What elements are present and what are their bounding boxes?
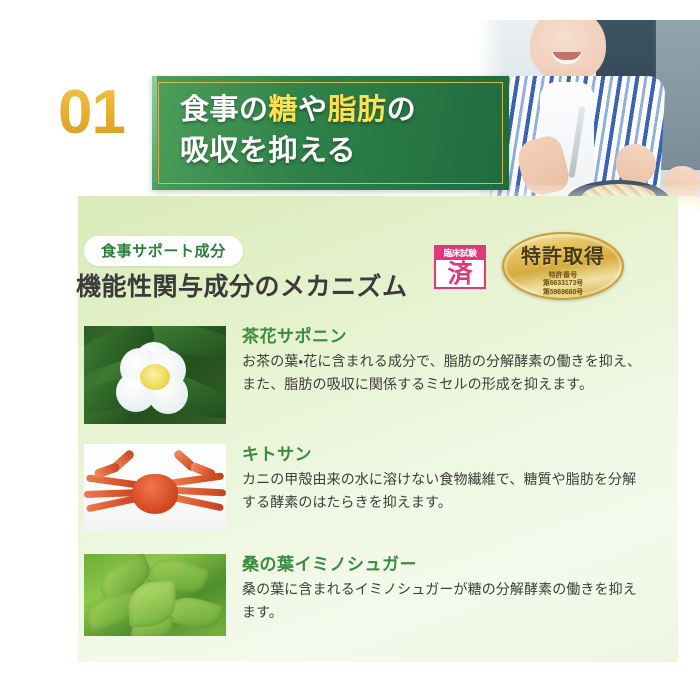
ingredient-title: 桑の葉イミノシュガー <box>242 550 642 575</box>
banner-line1-mid: や <box>298 94 328 126</box>
step-number: 01 <box>58 82 125 144</box>
patent-number-2: 第5969680号 <box>504 289 622 298</box>
crab-photo <box>84 444 226 532</box>
person-right-hand <box>616 144 656 184</box>
ingredient-description: 桑の葉に含まれるイミノシュガーが糖の分解酵素の働きを抑えます。 <box>242 578 642 623</box>
section-heading: 機能性関与成分のメカニズム <box>76 267 408 303</box>
crab-body <box>132 474 178 514</box>
banner-title: 食事の糖や脂肪の 吸収を抑える <box>180 90 495 172</box>
patent-seal-title: 特許取得 <box>504 240 622 269</box>
clinical-trial-badge: 臨床試験 済 <box>434 245 486 289</box>
banner-highlight-sugar: 糖 <box>269 94 299 126</box>
clinical-trial-mark: 済 <box>436 260 484 288</box>
clinical-trial-label: 臨床試験 <box>436 247 484 260</box>
ingredient-text: 茶花サポニン お茶の葉・花に含まれる成分で、脂肪の分解酵素の働きを抑え、また、脂… <box>242 322 642 395</box>
patent-number-label: 特許番号 <box>504 271 622 280</box>
ingredient-description: お茶の葉・花に含まれる成分で、脂肪の分解酵素の働きを抑え、また、脂肪の吸収に関係… <box>242 350 642 395</box>
title-banner: 食事の糖や脂肪の 吸収を抑える <box>152 76 509 190</box>
banner-line1-pre: 食事の <box>180 94 269 126</box>
mulberry-leaf-photo <box>84 554 226 636</box>
banner-line2: 吸収を抑える <box>180 135 356 167</box>
ingredient-title: 茶花サポニン <box>242 322 642 347</box>
banner-highlight-fat: 脂肪 <box>328 94 387 126</box>
banner-left-edge <box>152 76 157 190</box>
tea-flower-photo <box>84 326 226 424</box>
ingredient-text: キトサン カニの甲殻由来の水に溶けない食物繊維で、糖質や脂肪を分解する酵素のはた… <box>242 440 642 513</box>
patent-number-1: 第6633173号 <box>504 280 622 289</box>
ingredient-title: キトサン <box>242 440 642 465</box>
hero-eating-photo <box>478 20 700 215</box>
infographic-page: 01 食事の糖や脂肪の 吸収を抑える 食事サポート成分 機能性関与成分のメカニズ… <box>0 0 700 700</box>
ingredient-description: カニの甲殻由来の水に溶けない食物繊維で、糖質や脂肪を分解する酵素のはたらきを抑え… <box>242 468 642 513</box>
ingredient-text: 桑の葉イミノシュガー 桑の葉に含まれるイミノシュガーが糖の分解酵素の働きを抑えま… <box>242 550 642 623</box>
banner-line1-post: の <box>387 94 417 126</box>
support-ingredient-pill: 食事サポート成分 <box>84 236 243 266</box>
patent-seal-badge: 特許取得 特許番号 第6633173号 第5969680号 <box>502 232 624 300</box>
flower-stamen <box>140 364 170 390</box>
